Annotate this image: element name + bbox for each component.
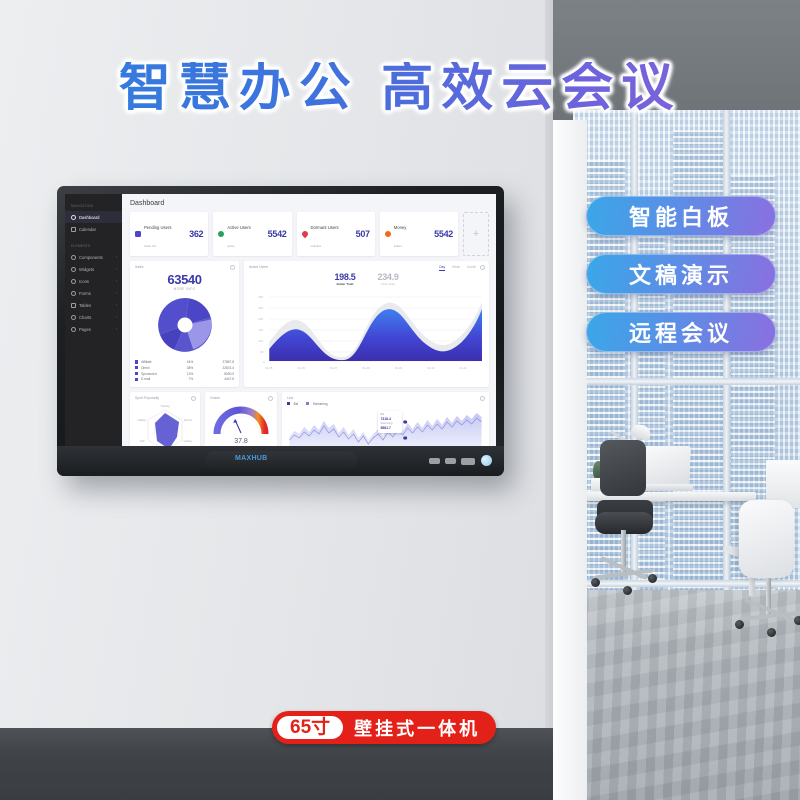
legend-amount: 8090.0 xyxy=(193,372,234,376)
gear-icon[interactable] xyxy=(268,396,273,401)
office-desk xyxy=(571,492,756,501)
dashboard-page-title: Dashboard xyxy=(130,200,489,207)
kpi-label: Butter Total xyxy=(334,282,355,286)
laptop-base xyxy=(641,484,693,491)
sidebar-item-label: Icons xyxy=(79,279,89,284)
hdmi-port-icon[interactable] xyxy=(461,458,475,465)
gear-icon[interactable] xyxy=(480,265,485,270)
tv-screen: NAVIGATION Dashboard Calendar ELEMENTS C… xyxy=(65,194,496,446)
kpi-value: 234.9 xyxy=(378,272,399,282)
chevron-right-icon: › xyxy=(116,255,117,259)
legend-item: Bid xyxy=(287,402,298,406)
stat-value: 5542 xyxy=(434,229,453,239)
pages-icon xyxy=(71,327,76,332)
stat-sublabel: Await. file xyxy=(144,244,156,248)
chart-range-tabs: Day Week Month xyxy=(439,265,476,271)
legend-percent: 38% xyxy=(175,366,193,370)
legend-swatch xyxy=(135,366,138,369)
laptop-screen xyxy=(642,446,691,486)
area-chart: 300250 200150 10050 0 01-0501-06 01-0701… xyxy=(249,287,484,373)
dark-office-chair-back xyxy=(600,440,646,496)
sidebar-item-widgets[interactable]: Widgets › xyxy=(65,263,122,275)
white-office-chair xyxy=(739,500,794,578)
gear-icon[interactable] xyxy=(480,396,485,401)
legend-item: Sponsored 13% 8090.0 xyxy=(135,372,234,376)
legend-amount: 22874.4 xyxy=(193,366,234,370)
office-floor xyxy=(553,590,800,800)
legend-item: Swimming xyxy=(306,402,327,406)
sidebar-item-pages[interactable]: Pages › xyxy=(65,323,122,335)
card-title: Line xyxy=(287,396,484,400)
badge-type-label: 壁挂式一体机 xyxy=(354,715,480,741)
svg-text:100: 100 xyxy=(258,339,263,343)
badge-size-label: 65寸 xyxy=(277,716,343,740)
legend-swatch xyxy=(306,402,309,405)
components-icon xyxy=(71,255,76,260)
sidebar-item-forms[interactable]: Forms › xyxy=(65,287,122,299)
legend-swatch xyxy=(135,372,138,375)
stat-sublabel: dollars xyxy=(394,244,402,248)
dashboard-content: Dashboard Pending Users Await. file 362 xyxy=(122,194,496,446)
svg-text:01-08: 01-08 xyxy=(362,366,370,370)
page-title: 智慧办公 高效云会议 xyxy=(0,62,800,114)
chevron-right-icon: › xyxy=(116,315,117,319)
feature-pill-whiteboard[interactable]: 智能白板 xyxy=(586,196,776,236)
sidebar-item-components[interactable]: Components › xyxy=(65,251,122,263)
chevron-right-icon: › xyxy=(116,303,117,307)
sidebar-item-calendar[interactable]: Calendar xyxy=(65,223,122,235)
legend-amount: 4447.8 xyxy=(193,377,234,381)
charts-icon xyxy=(71,315,76,320)
legend-percent: 7% xyxy=(175,377,193,381)
legend-label: E-mail xyxy=(141,377,175,381)
feature-pill-remote-meeting[interactable]: 远程会议 xyxy=(586,312,776,352)
card-title: Sales xyxy=(135,265,234,269)
add-card-button[interactable]: + xyxy=(463,212,489,256)
legend-item: Affiliate 44% 27867.8 xyxy=(135,360,234,364)
legend-label: Swimming xyxy=(313,402,328,406)
svg-text:0: 0 xyxy=(263,360,265,364)
charts-row-secondary: Sport Popularity Training Soccer Hockey … xyxy=(130,392,489,446)
legend-label: Sponsored xyxy=(141,372,175,376)
radar-axis-label: Golf xyxy=(140,439,145,443)
widgets-icon xyxy=(71,267,76,272)
stat-label: Dormant Users xyxy=(311,225,339,230)
stat-sublabel: active xyxy=(227,244,234,248)
sidebar-item-label: Pages xyxy=(79,327,91,332)
svg-text:01-09: 01-09 xyxy=(395,366,403,370)
brand-logo: MAXHUB xyxy=(235,455,268,462)
active-users-card: Active Users Day Week Month 198.5 Butter… xyxy=(244,261,489,387)
home-icon xyxy=(71,215,76,220)
sidebar: NAVIGATION Dashboard Calendar ELEMENTS C… xyxy=(65,194,122,446)
tv-bezel-bottom: MAXHUB xyxy=(57,446,504,476)
office-scene xyxy=(553,0,800,800)
feature-pill-presentation[interactable]: 文稿演示 xyxy=(586,254,776,294)
legend-amount: 27867.8 xyxy=(193,360,234,364)
chevron-right-icon: › xyxy=(116,267,117,271)
sidebar-item-label: Widgets xyxy=(79,267,94,272)
forms-icon xyxy=(71,291,76,296)
gear-icon[interactable] xyxy=(230,265,235,270)
office-white-pillar xyxy=(553,120,587,800)
sidebar-item-label: Forms xyxy=(79,291,91,296)
svg-text:250: 250 xyxy=(258,306,263,310)
icons-icon xyxy=(71,279,76,284)
stat-card-pending-users[interactable]: Pending Users Await. file 362 xyxy=(130,212,208,256)
stat-label: Active Users xyxy=(227,225,251,230)
sidebar-item-tables[interactable]: Tables › xyxy=(65,299,122,311)
speaker-grille xyxy=(205,451,357,470)
square-icon xyxy=(135,231,141,237)
legend-swatch xyxy=(135,378,138,381)
svg-text:01-06: 01-06 xyxy=(298,366,306,370)
gauge-card: Charts xyxy=(205,392,277,446)
tooltip-series-2-value: 5881.7 xyxy=(381,426,400,431)
sidebar-item-label: Components xyxy=(79,255,103,260)
dashboard-app: NAVIGATION Dashboard Calendar ELEMENTS C… xyxy=(65,194,496,446)
sales-card: Sales 63540 MORE INFO xyxy=(130,261,239,387)
svg-text:01-10: 01-10 xyxy=(427,366,435,370)
interactive-flat-panel: NAVIGATION Dashboard Calendar ELEMENTS C… xyxy=(57,186,504,476)
stat-value: 507 xyxy=(356,229,370,239)
calendar-icon xyxy=(71,227,76,232)
chevron-right-icon: › xyxy=(116,291,117,295)
sidebar-item-label: Tables xyxy=(79,303,91,308)
legend-swatch xyxy=(135,360,138,363)
sidebar-group-label: ELEMENTS xyxy=(65,235,122,251)
kpi-value: 198.5 xyxy=(334,272,355,282)
sidebar-item-label: Charts xyxy=(79,315,91,320)
svg-text:01-11: 01-11 xyxy=(460,366,467,370)
legend-swatch xyxy=(287,402,290,405)
sidebar-item-label: Calendar xyxy=(79,227,96,232)
tab-day[interactable]: Day xyxy=(439,265,445,271)
legend-percent: 13% xyxy=(175,372,193,376)
svg-text:150: 150 xyxy=(258,328,263,332)
legend-item: E-mail 7% 4447.8 xyxy=(135,377,234,381)
gauge-chart xyxy=(210,400,272,438)
heart-icon xyxy=(300,230,308,238)
gauge-value: 37.8 xyxy=(205,438,277,445)
svg-text:300: 300 xyxy=(258,295,263,299)
radar-axis-label: Soccer xyxy=(184,418,192,422)
sales-more-info[interactable]: MORE INFO xyxy=(135,287,234,291)
sidebar-item-dashboard[interactable]: Dashboard xyxy=(65,211,122,223)
tab-week[interactable]: Week xyxy=(452,265,460,271)
coin-icon xyxy=(385,231,391,237)
radar-chart: Training Soccer Hockey Basketball Golf H… xyxy=(135,400,195,446)
usb-port-icon[interactable] xyxy=(445,458,456,464)
stat-card-active-users[interactable]: Active Users active 5542 xyxy=(213,212,291,256)
feature-pill-list: 智能白板 文稿演示 远程会议 xyxy=(586,196,776,370)
kpi-flow-total: 234.9 Flow Total xyxy=(378,272,399,286)
radar-axis-label: Training xyxy=(160,404,170,408)
sidebar-item-icons[interactable]: Icons › xyxy=(65,275,122,287)
radar-axis-label: Hockey xyxy=(184,439,193,443)
tables-icon xyxy=(71,303,76,308)
stat-sublabel: undefine xyxy=(311,244,322,248)
sales-total: 63540 xyxy=(135,272,234,287)
svg-text:01-07: 01-07 xyxy=(330,366,338,370)
line-legend: Bid Swimming xyxy=(287,402,484,406)
kpi-label: Flow Total xyxy=(378,282,399,286)
legend-percent: 44% xyxy=(175,360,193,364)
legend-label: Bid xyxy=(294,402,299,406)
stat-value: 362 xyxy=(189,229,203,239)
svg-text:200: 200 xyxy=(258,317,263,321)
stat-label: Money xyxy=(394,225,407,230)
radar-axis-label: Hokkey xyxy=(138,418,147,422)
svg-text:50: 50 xyxy=(260,350,264,354)
circle-icon xyxy=(218,231,224,237)
chevron-right-icon: › xyxy=(116,327,117,331)
stat-card-row: Pending Users Await. file 362 Active Use… xyxy=(130,212,489,256)
legend-label: Direct xyxy=(141,366,175,370)
stat-card-dormant-users[interactable]: Dormant Users undefine 507 xyxy=(297,212,375,256)
chart-tooltip: Bid 7318.4 Swimming 5881.7 xyxy=(378,411,402,433)
stat-label: Pending Users xyxy=(144,225,171,230)
gear-icon[interactable] xyxy=(191,396,196,401)
sidebar-header: NAVIGATION xyxy=(65,201,122,211)
usb-port-icon[interactable] xyxy=(429,458,440,464)
power-button-icon[interactable] xyxy=(481,455,492,466)
stat-card-money[interactable]: Money dollars 5542 xyxy=(380,212,458,256)
charts-row-primary: Sales 63540 MORE INFO xyxy=(130,261,489,387)
sport-popularity-card: Sport Popularity Training Soccer Hockey … xyxy=(130,392,200,446)
sidebar-item-charts[interactable]: Charts › xyxy=(65,311,122,323)
sidebar-item-label: Dashboard xyxy=(79,215,100,220)
tab-month[interactable]: Month xyxy=(467,265,476,271)
svg-text:01-05: 01-05 xyxy=(265,366,273,370)
legend-label: Affiliate xyxy=(141,360,175,364)
kpi-row: 198.5 Butter Total 234.9 Flow Total xyxy=(249,272,484,286)
product-badge: 65寸 壁挂式一体机 xyxy=(272,711,496,744)
legend-item: Direct 38% 22874.4 xyxy=(135,366,234,370)
stat-value: 5542 xyxy=(268,229,287,239)
kpi-butter-total: 198.5 Butter Total xyxy=(334,272,355,286)
chevron-right-icon: › xyxy=(116,279,117,283)
line-card: Line Bid Swimming xyxy=(282,392,489,446)
donut-chart xyxy=(135,294,234,356)
tooltip-series-2-name: Swimming xyxy=(381,422,393,425)
tooltip-series-1-name: Bid xyxy=(381,413,385,416)
